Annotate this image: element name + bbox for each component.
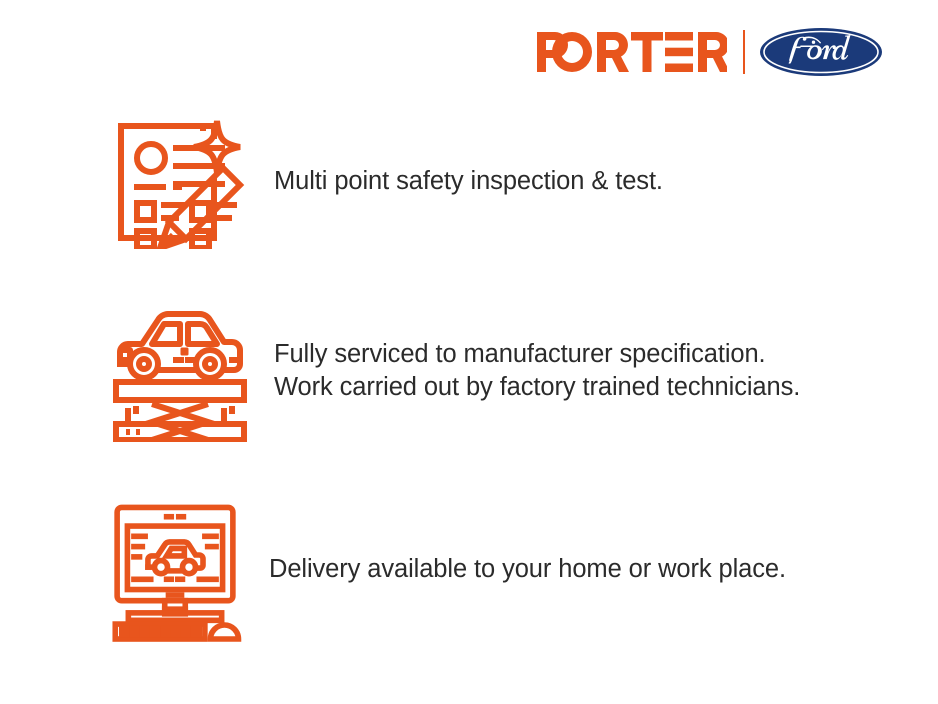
porter-wordmark-glyphs [537, 32, 727, 72]
car-on-lift-icon [110, 300, 250, 442]
porter-wordmark [537, 32, 727, 72]
clipboard-inspection-icon [110, 113, 250, 249]
feature-text-servicing: Fully serviced to manufacturer specifica… [274, 338, 800, 404]
feature-line: Fully serviced to manufacturer specifica… [274, 338, 800, 371]
feature-row-inspection: Multi point safety inspection & test. [110, 113, 663, 249]
brand-logo-lockup [537, 24, 883, 80]
logo-divider [743, 30, 745, 74]
feature-line: Delivery available to your home or work … [269, 553, 786, 586]
feature-row-delivery: Delivery available to your home or work … [105, 494, 786, 644]
ford-oval-logo [759, 27, 883, 77]
feature-text-inspection: Multi point safety inspection & test. [274, 165, 663, 198]
feature-text-delivery: Delivery available to your home or work … [269, 553, 786, 586]
feature-row-servicing: Fully serviced to manufacturer specifica… [110, 300, 800, 442]
feature-line: Work carried out by factory trained tech… [274, 371, 800, 404]
monitor-car-delivery-icon [105, 494, 245, 644]
feature-line: Multi point safety inspection & test. [274, 165, 663, 198]
